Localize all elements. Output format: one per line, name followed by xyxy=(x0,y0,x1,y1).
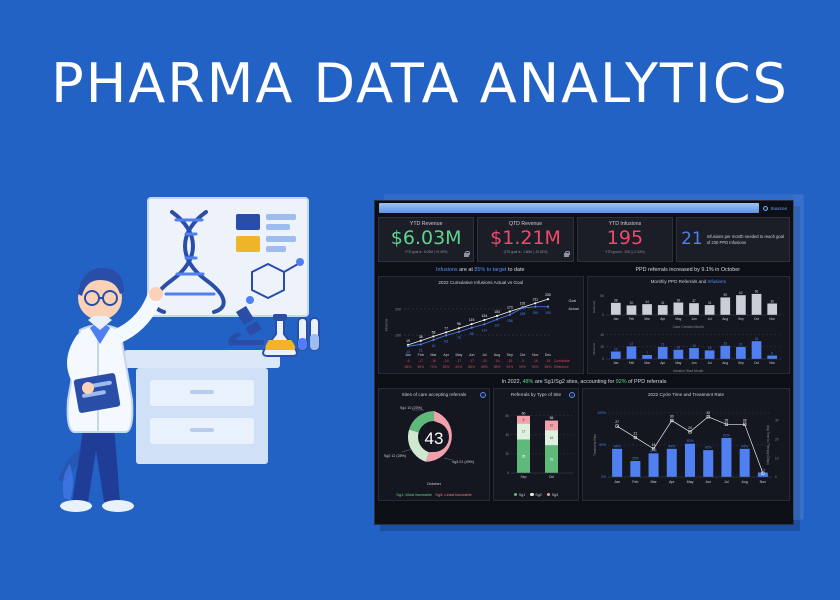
data-label: 19 xyxy=(406,339,410,343)
data-label: 98 xyxy=(470,332,474,336)
kpi-subtitle: QTD goal is : 1.80M | -32.82%) xyxy=(480,250,570,254)
bar-label: 30 xyxy=(629,301,633,305)
line-label: 30 xyxy=(670,415,674,419)
y-tick: 0 xyxy=(602,313,604,317)
bar-label: 21 xyxy=(660,343,664,347)
data-point[interactable] xyxy=(534,306,536,308)
bar-label: 55 xyxy=(723,293,727,297)
data-label: 63 xyxy=(444,339,448,343)
narrative-mid: are at xyxy=(458,267,475,273)
x-tick: Apr xyxy=(660,361,666,365)
x-axis-label-bottom: Infusion Start Month xyxy=(590,369,788,373)
x-tick: Jul xyxy=(707,317,711,321)
bar[interactable] xyxy=(673,303,683,315)
bar[interactable] xyxy=(649,453,659,477)
dashboard-topbar: i Sources xyxy=(375,201,793,215)
kpi-row: YTD Revenue $6.03M YTD goal is : 6.00M |… xyxy=(378,217,790,262)
data-label: 115 xyxy=(469,318,475,322)
bar[interactable] xyxy=(736,295,746,315)
bar-plot: 13Jan22Feb7Mar21Apr16May19Jun15Jul23Aug2… xyxy=(610,337,776,365)
bar-label: 61% xyxy=(723,433,730,437)
line-label: 21 xyxy=(633,431,637,435)
y-tick-right: 10 xyxy=(775,456,779,460)
segment-label: 17 xyxy=(522,430,526,434)
panel-row-1: 2022 Cumulative Infusions Actual vs Goal… xyxy=(378,276,790,374)
data-point[interactable] xyxy=(432,339,434,341)
data-label: 195 xyxy=(545,311,551,315)
lock-icon xyxy=(564,253,569,257)
x-tick: Apr xyxy=(669,480,675,484)
info-icon[interactable]: i xyxy=(569,392,575,398)
chart-referrals-by-type[interactable]: Referrals by Type of Site i 0204060 3517… xyxy=(493,388,579,501)
combo-plot: 44%Jan25%Feb37%Mar44%Apr52%May42%Jun61%J… xyxy=(608,411,772,484)
line-label: 27 xyxy=(615,420,619,424)
y-tick: 200 xyxy=(395,308,401,312)
line-chart-plot: 1938587796115134153173192211230132142637… xyxy=(405,293,571,369)
data-label: 42 xyxy=(432,344,436,348)
stacked-bar-plot: 3517860Sep29161055Oct xyxy=(511,411,573,479)
segment-label: 10 xyxy=(550,424,554,428)
y-tick-left: 50% xyxy=(599,443,606,447)
x-tick: Sep xyxy=(520,475,526,479)
kpi-card-ytd-infusions[interactable]: YTD Infusions 195 YTD goal is : 200 | (-… xyxy=(577,217,673,262)
kpi-note: Infusions per month needed to reach goal… xyxy=(707,234,785,246)
segment-label: 16 xyxy=(550,436,554,440)
x-tick: Jun xyxy=(705,480,711,484)
bar-label: 66 xyxy=(754,290,758,294)
x-tick: Aug xyxy=(722,317,728,321)
y-axis-label: Infusions xyxy=(592,343,596,356)
y-tick: 20 xyxy=(600,345,604,349)
bar-label: 15 xyxy=(707,346,711,350)
kpi-subtitle: YTD goal is : 200 | (-2.34%) xyxy=(580,250,670,254)
bar[interactable] xyxy=(740,449,750,477)
y-axis-label-left: Treatment Rate xyxy=(593,433,597,455)
y-tick: 100 xyxy=(395,334,401,338)
bar-label: 37% xyxy=(650,449,657,453)
x-tick: Aug xyxy=(741,480,747,484)
search-input[interactable] xyxy=(379,203,759,213)
chart-legend: Goal Actual xyxy=(569,299,579,311)
panel-row-2: Sites of care accepting referrals i 43 S… xyxy=(378,388,790,501)
x-tick: Dec xyxy=(545,353,552,357)
cumulative-pct: 89% xyxy=(494,365,501,369)
bar-label: 44% xyxy=(614,444,621,448)
x-tick: Oct xyxy=(520,353,526,357)
kpi-subtitle: YTD goal is : 6.00M | +0.49%) xyxy=(381,250,471,254)
y-tick: 20 xyxy=(505,452,509,456)
bar-label: 39 xyxy=(676,298,680,302)
cumulative-difference: -15 xyxy=(507,359,512,363)
data-label: 79 xyxy=(457,336,461,340)
y-axis-label: Infusions xyxy=(384,319,388,332)
narrative-row-2: In 2022, 48% are Sg1/Sg2 sites, accounti… xyxy=(378,377,790,387)
page-title: PHARMA DATA ANALYTICS xyxy=(0,52,840,115)
data-label: 38 xyxy=(419,335,423,339)
bar[interactable] xyxy=(704,305,714,315)
bar-label: 16 xyxy=(676,346,680,350)
bar[interactable] xyxy=(736,347,746,359)
bar[interactable] xyxy=(689,348,699,359)
y-tick: 50 xyxy=(600,294,604,298)
y-tick-right: 0 xyxy=(775,475,777,479)
data-point[interactable] xyxy=(458,331,460,333)
x-tick: Aug xyxy=(722,361,728,365)
y-tick: 0 xyxy=(602,357,604,361)
total-label: 55 xyxy=(550,416,554,420)
segment-label: 29 xyxy=(550,457,554,461)
bar-chart-referrals-svg: 50 0 Referrals 38Jan30Feb34Mar31Apr39May… xyxy=(590,285,786,325)
bar[interactable] xyxy=(630,461,640,477)
data-point[interactable] xyxy=(509,314,511,316)
data-point[interactable] xyxy=(445,331,447,333)
y-tick-left: 0% xyxy=(601,475,606,479)
data-point[interactable] xyxy=(509,310,511,312)
bar[interactable] xyxy=(685,444,695,477)
bar[interactable] xyxy=(720,297,730,315)
cumulative-pct: 72% xyxy=(430,365,437,369)
bar[interactable] xyxy=(642,304,652,315)
data-point[interactable] xyxy=(445,334,447,336)
y-tick-left: 100% xyxy=(597,411,606,415)
line-label: 24 xyxy=(688,426,692,430)
legend-item-sg1: Sg1 xyxy=(514,493,525,497)
bar[interactable] xyxy=(751,294,761,315)
chart-title: 2022 Cumulative Infusions Actual vs Goal xyxy=(382,280,580,285)
x-tick: Mar xyxy=(430,353,437,357)
bar-label: 31 xyxy=(660,301,664,305)
x-tick: Mar xyxy=(644,361,650,365)
bar-label: 42% xyxy=(705,446,712,450)
data-label: 21 xyxy=(419,348,423,352)
info-icon: i xyxy=(763,206,768,211)
bar[interactable] xyxy=(657,347,667,359)
y-tick: 40 xyxy=(600,333,604,337)
data-point[interactable] xyxy=(496,318,498,320)
bar[interactable] xyxy=(667,449,677,477)
donut-label-sg1: Sg1 10 (23%) xyxy=(400,406,422,410)
x-tick: Oct xyxy=(549,475,554,479)
cumulative-pct: 92% xyxy=(506,365,513,369)
cumulative-difference-label: Cumulative xyxy=(554,359,570,363)
data-label: 173 xyxy=(507,306,513,310)
illustration-scientist-presentation xyxy=(40,180,360,540)
bar-label: 6 xyxy=(771,351,773,355)
y-axis-label: Referrals xyxy=(592,300,596,313)
x-tick: Mar xyxy=(650,480,657,484)
bar[interactable] xyxy=(767,304,777,316)
x-tick: Jun xyxy=(469,353,475,357)
x-tick: Nov xyxy=(760,480,767,484)
x-tick: May xyxy=(456,353,463,357)
sources-button[interactable]: i Sources xyxy=(763,206,789,211)
cumulative-pct: 99% xyxy=(519,365,526,369)
x-tick: Jun xyxy=(691,317,696,321)
data-label: 211 xyxy=(533,297,539,301)
data-label: 153 xyxy=(494,310,500,314)
legend-item-actual: Actual xyxy=(569,307,579,311)
data-label: 134 xyxy=(482,314,488,318)
cumulative-pct: 55% xyxy=(417,365,424,369)
data-point[interactable] xyxy=(471,327,473,329)
data-point[interactable] xyxy=(407,345,409,347)
bar[interactable] xyxy=(657,305,667,315)
chart-title-top: Monthly PPD Referrals and Infusions xyxy=(590,279,788,284)
x-tick: Jun xyxy=(691,361,696,365)
data-point[interactable] xyxy=(496,315,498,317)
cumulative-difference: -16 xyxy=(495,359,500,363)
line-label: 28 xyxy=(743,418,747,422)
legend-item-sg3: Sg3 xyxy=(547,493,558,497)
x-tick: May xyxy=(675,361,681,365)
stacked-bar-svg: 0204060 3517860Sep29161055Oct xyxy=(497,399,575,491)
cumulative-pct: 85% xyxy=(545,365,552,369)
bar-label: 44% xyxy=(668,444,675,448)
bar[interactable] xyxy=(610,303,620,315)
x-tick: Jan xyxy=(613,317,618,321)
y-tick-right: 30 xyxy=(775,419,779,423)
kpi-card-qtd-revenue[interactable]: QTD Revenue $1.21M QTD goal is : 1.80M |… xyxy=(477,217,573,262)
cumulative-difference: -15 xyxy=(546,359,551,363)
bar[interactable] xyxy=(689,303,699,315)
data-label: 77 xyxy=(444,326,448,330)
cumulative-pct: 85% xyxy=(468,365,475,369)
cumulative-pct: 68% xyxy=(405,365,412,369)
x-tick: Jul xyxy=(724,480,729,484)
cumulative-pct: 85% xyxy=(481,365,488,369)
cumulative-difference: -14 xyxy=(444,359,449,363)
info-icon[interactable]: i xyxy=(480,392,486,398)
lock-icon xyxy=(464,253,469,257)
data-point[interactable] xyxy=(547,306,549,308)
bar-label: 62 xyxy=(739,291,743,295)
bar-label: 31 xyxy=(754,337,758,341)
bar[interactable] xyxy=(720,346,730,359)
data-label: 158 xyxy=(507,319,513,323)
cumulative-difference: -3 xyxy=(521,359,524,363)
data-label: 230 xyxy=(545,293,551,297)
y-tick: 60 xyxy=(505,414,509,418)
narrative-pre: Infusions xyxy=(436,267,458,273)
kpi-value: $1.21M xyxy=(480,228,570,249)
y-tick: 40 xyxy=(505,433,509,437)
narrative-sites: In 2022, 48% are Sg1/Sg2 sites, accounti… xyxy=(378,377,790,387)
bar-label: 25% xyxy=(632,457,639,461)
chart-legend: Sg1 Sg2 Sg3 xyxy=(494,493,578,497)
bar-label: 31 xyxy=(707,301,711,305)
narrative-post: to date xyxy=(506,267,524,273)
x-tick: Feb xyxy=(628,317,634,321)
kpi-value: 195 xyxy=(580,228,670,249)
narrative-infusions-target: Infusions are at 85% to target to date xyxy=(378,265,583,275)
data-label: 58 xyxy=(432,330,436,334)
x-tick: Jan xyxy=(614,480,620,484)
y-axis-ticks: 0204060 xyxy=(505,414,573,475)
x-tick: Apr xyxy=(443,353,449,357)
cumulative-difference: -17 xyxy=(418,359,423,363)
x-tick: Oct xyxy=(754,361,759,365)
bar-label: 38 xyxy=(614,299,618,303)
series-line-goal xyxy=(408,299,548,345)
bar-label: 36 xyxy=(770,299,774,303)
x-tick: Aug xyxy=(494,353,500,357)
x-tick: Feb xyxy=(632,480,638,484)
data-label: 114 xyxy=(482,328,488,332)
combo-chart-svg: 0%50%100%0102030 44%Jan25%Feb37%Mar44%Ap… xyxy=(586,399,782,497)
kpi-value: 21 xyxy=(681,229,703,250)
bar[interactable] xyxy=(642,355,652,359)
data-point[interactable] xyxy=(458,327,460,329)
x-tick: Oct xyxy=(754,317,759,321)
bar[interactable] xyxy=(703,450,713,477)
kpi-value: $6.03M xyxy=(381,228,471,249)
x-tick: May xyxy=(675,317,681,321)
bar[interactable] xyxy=(751,341,761,359)
x-tick: Sep xyxy=(738,317,744,321)
chart-sites-of-care-donut[interactable]: Sites of care accepting referrals i 43 S… xyxy=(378,388,490,501)
illustration-svg xyxy=(40,180,360,540)
chart-ppd-referrals-group[interactable]: Monthly PPD Referrals and Infusions 50 0… xyxy=(587,276,791,374)
cumulative-difference-label2: Difference xyxy=(554,365,569,369)
dashboard-window: i Sources YTD Revenue $6.03M YTD goal is… xyxy=(374,200,794,525)
cumulative-pct: 92% xyxy=(532,365,539,369)
bar-label: 7 xyxy=(646,351,648,355)
sources-label: Sources xyxy=(770,206,787,211)
chart-title: Sites of care accepting referrals xyxy=(382,392,486,397)
segment-label: 35 xyxy=(522,455,526,459)
bar[interactable] xyxy=(626,346,636,359)
data-point[interactable] xyxy=(534,302,536,304)
x-tick: Feb xyxy=(418,353,424,357)
cumulative-difference: -17 xyxy=(456,359,461,363)
donut-caption: October xyxy=(382,481,486,486)
donut-label-sg2: Sg2 12 (28%) xyxy=(384,454,406,458)
chart-cycle-time-treatment-rate[interactable]: 2022 Cycle Time and Treatment Rate Treat… xyxy=(582,388,790,501)
x-tick: Jul xyxy=(482,353,487,357)
x-tick: Apr xyxy=(660,317,666,321)
data-label: 137 xyxy=(494,323,500,327)
x-tick: Nov xyxy=(769,361,775,365)
bar-label: 44% xyxy=(741,444,748,448)
cumulative-difference: -6 xyxy=(406,359,409,363)
data-label: 96 xyxy=(457,322,461,326)
legend-item-sg2: Sg2 xyxy=(530,493,541,497)
data-point[interactable] xyxy=(521,307,523,309)
data-point[interactable] xyxy=(420,340,422,342)
bar[interactable] xyxy=(673,350,683,359)
cumulative-pct: 82% xyxy=(456,365,463,369)
y-axis-label-right: Avg Time to Therapy (Days) xyxy=(766,425,770,465)
donut-footnote: Sg1: Most favorable | Sg3: Least favorab… xyxy=(379,492,489,497)
x-tick: Feb xyxy=(628,361,634,365)
bar[interactable] xyxy=(704,350,714,359)
data-label: 189 xyxy=(520,312,526,316)
x-tick: Nov xyxy=(769,317,775,321)
bar-label: 22 xyxy=(629,342,633,346)
x-tick: Sep xyxy=(507,353,513,357)
bar-label: 23 xyxy=(723,342,727,346)
cumulative-difference: -17 xyxy=(469,359,474,363)
line-label: 32 xyxy=(706,411,710,415)
x-tick: Nov xyxy=(532,353,539,357)
x-tick: Jul xyxy=(707,361,711,365)
cumulative-difference: -20 xyxy=(482,359,487,363)
narrative-ppd-referrals: PPD referrals increased by 9.1% in Octob… xyxy=(586,265,791,275)
bar-label: 34 xyxy=(645,300,649,304)
data-label: 192 xyxy=(520,301,526,305)
data-label: 195 xyxy=(532,311,538,315)
bar-chart-infusions-svg: 40 20 0 Infusions 13Jan22Feb7Mar21Apr16M… xyxy=(590,329,786,369)
cumulative-difference: -16 xyxy=(533,359,538,363)
chart-cumulative-infusions[interactable]: 2022 Cumulative Infusions Actual vs Goal… xyxy=(378,276,584,374)
donut-svg: 43 Sg1 10 (23%) Sg2 12 (28%) Sg3 21 (49%… xyxy=(382,399,486,477)
x-tick: Jan xyxy=(405,353,411,357)
data-point[interactable] xyxy=(483,319,485,321)
bar[interactable] xyxy=(767,356,777,359)
narrative-highlight: 85% to target xyxy=(474,267,506,273)
x-tick: May xyxy=(687,480,694,484)
bar[interactable] xyxy=(626,305,636,315)
bar-plot: 38Jan30Feb34Mar31Apr39May37Jun31Jul55Aug… xyxy=(610,290,776,321)
y-tick: 0 xyxy=(507,471,509,475)
data-point[interactable] xyxy=(420,343,422,345)
donut-label-sg3: Sg3 21 (49%) xyxy=(452,460,474,464)
x-tick: Jan xyxy=(613,361,618,365)
kpi-card-ytd-revenue[interactable]: YTD Revenue $6.03M YTD goal is : 6.00M |… xyxy=(378,217,474,262)
bar-label: 13 xyxy=(614,347,618,351)
kpi-card-infusions-needed[interactable]: 21 Infusions per month needed to reach g… xyxy=(676,217,790,262)
data-point[interactable] xyxy=(483,323,485,325)
bar[interactable] xyxy=(612,449,622,477)
data-point[interactable] xyxy=(471,323,473,325)
bar[interactable] xyxy=(721,438,731,477)
legend-item-goal: Goal xyxy=(569,299,579,303)
data-point[interactable] xyxy=(547,298,549,300)
bar-label: 19 xyxy=(692,344,696,348)
chart-title: 2022 Cycle Time and Treatment Rate xyxy=(586,392,786,397)
bar-label: 21 xyxy=(739,343,743,347)
chart-title: Referrals by Type of Site xyxy=(497,392,575,397)
bar-label: 37 xyxy=(692,299,696,303)
cumulative-pct: 82% xyxy=(443,365,450,369)
line-chart-svg: 100 200 19385877961151341531731922112301… xyxy=(382,287,578,371)
narrative-row-1: Infusions are at 85% to target to date P… xyxy=(378,265,790,275)
x-tick: Sep xyxy=(738,361,744,365)
line-label: 15 xyxy=(652,443,656,447)
data-point[interactable] xyxy=(432,335,434,337)
total-label: 60 xyxy=(522,411,526,415)
bar-label: 52% xyxy=(687,439,694,443)
cumulative-difference: -16 xyxy=(431,359,436,363)
x-tick: Mar xyxy=(644,317,650,321)
bar[interactable] xyxy=(610,352,620,359)
y-tick-right: 20 xyxy=(775,438,779,442)
donut-center-value: 43 xyxy=(425,429,444,448)
segment-label: 8 xyxy=(523,418,525,422)
series-line-actual xyxy=(408,307,548,346)
line-label: 28 xyxy=(725,418,729,422)
